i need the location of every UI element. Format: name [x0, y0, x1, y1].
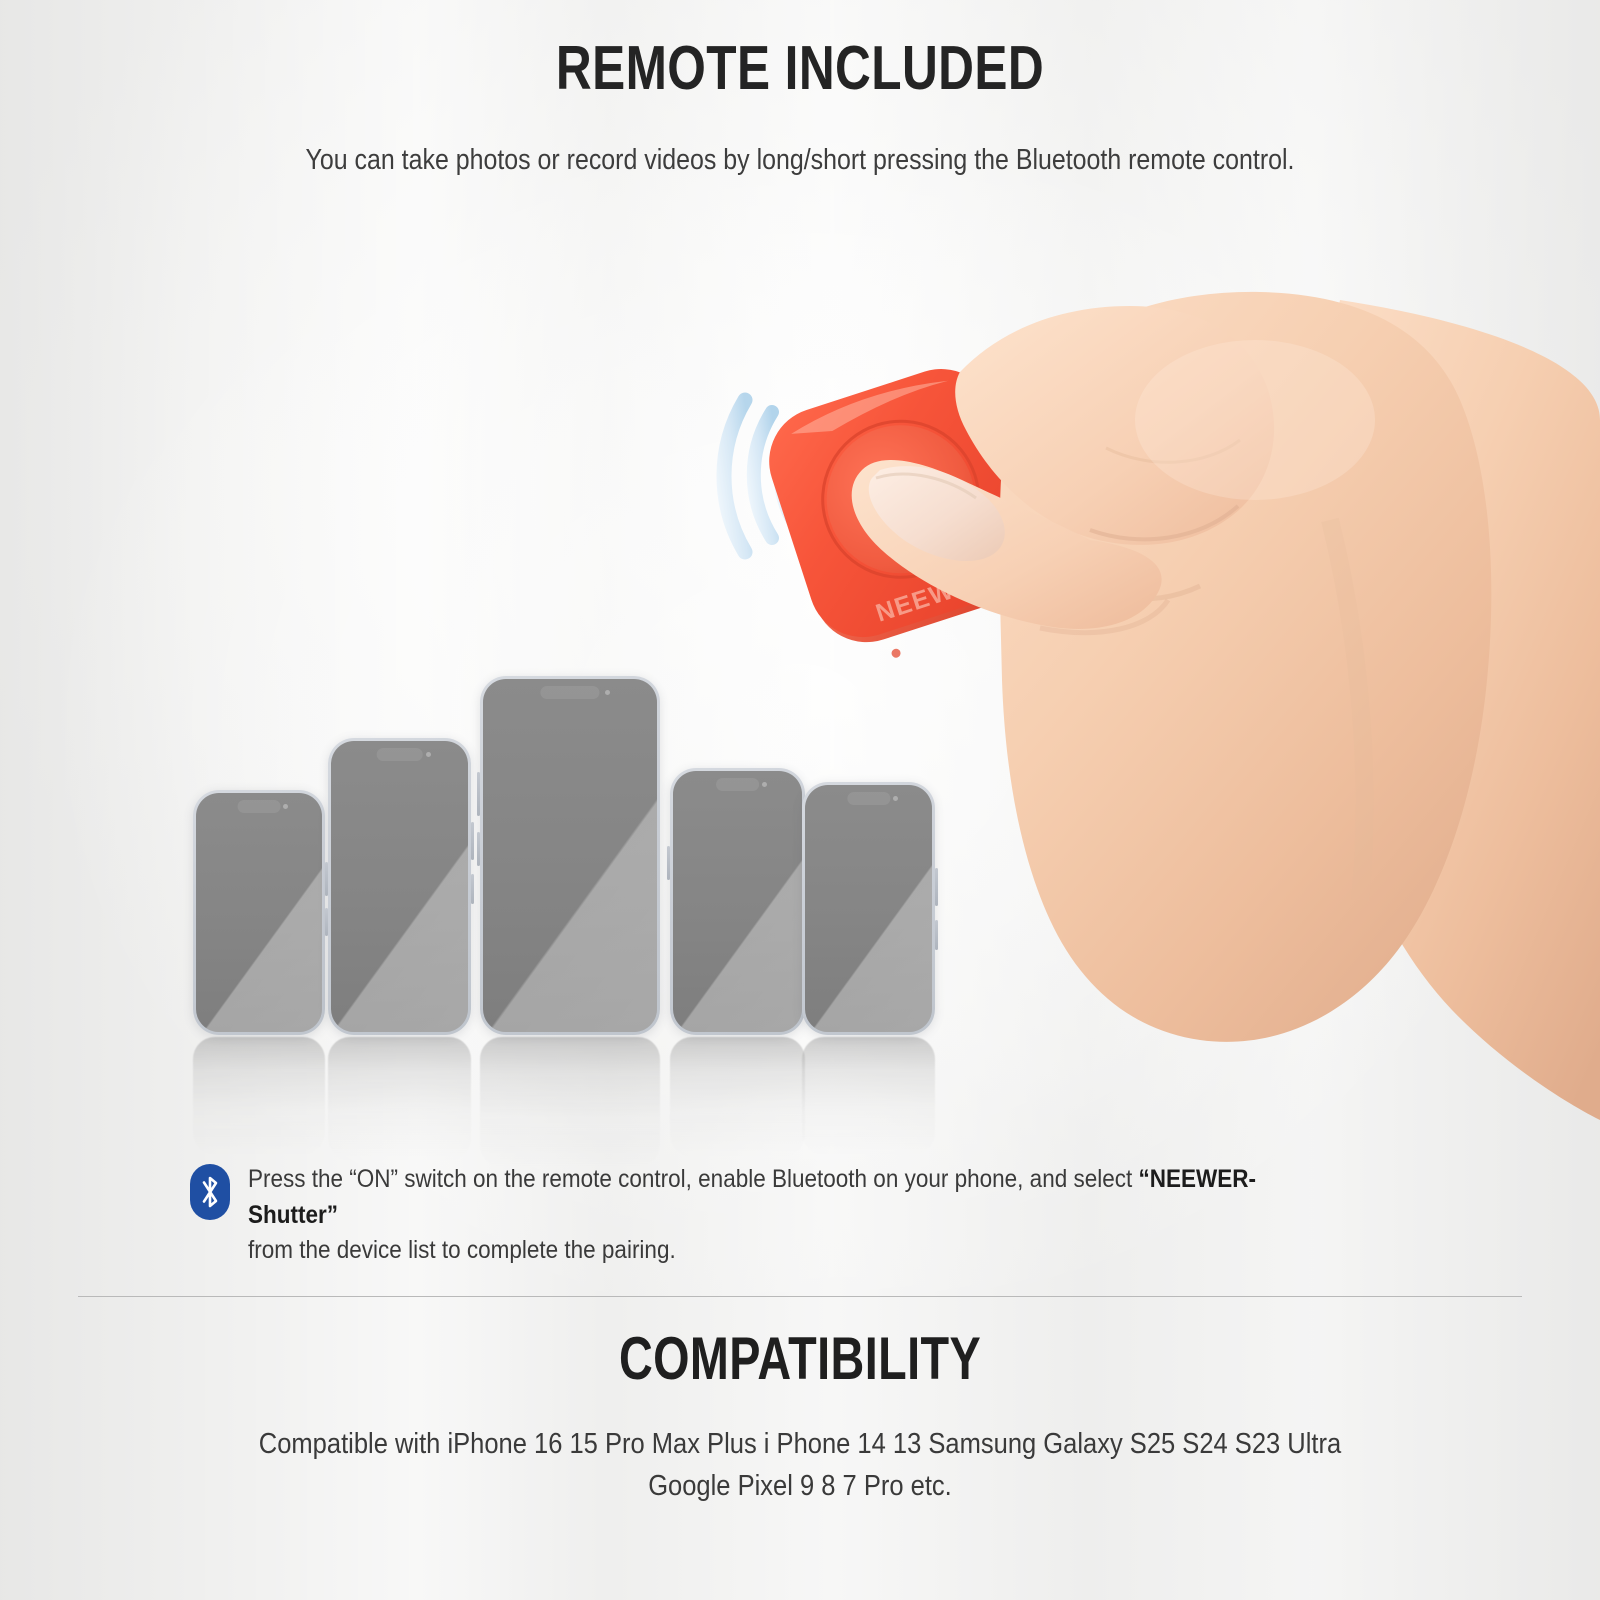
volume-button: [935, 868, 938, 906]
power-button: [471, 874, 474, 904]
action-button: [477, 832, 480, 866]
bluetooth-note-text: Press the “ON” switch on the remote cont…: [248, 1162, 1303, 1269]
phone-screen: [483, 679, 657, 1032]
page-subtitle: You can take photos or record videos by …: [112, 142, 1488, 178]
bluetooth-icon: [190, 1164, 230, 1220]
infographic-page: REMOTE INCLUDED You can take photos or r…: [0, 0, 1600, 1600]
shutter-button: [807, 406, 993, 592]
power-button: [935, 920, 938, 950]
phone-screen: [805, 785, 932, 1032]
hand: [852, 292, 1600, 1120]
phone-mockup-5: [802, 782, 935, 1035]
shutter-button-ring: [802, 401, 999, 598]
phone-screen: [331, 741, 468, 1032]
bt-line2: from the device list to complete the pai…: [248, 1236, 676, 1264]
phone-reflection-4: [670, 1037, 805, 1157]
volume-button: [325, 862, 328, 896]
power-button: [325, 908, 328, 936]
phone-mockup-2: [328, 738, 471, 1035]
page-title: REMOTE INCLUDED: [160, 36, 1440, 101]
phone-mockup-4: [670, 768, 805, 1035]
phone-mockup-3: [480, 676, 660, 1035]
compatibility-line-2: Google Pixel 9 8 7 Pro etc.: [96, 1465, 1504, 1507]
compatibility-title: COMPATIBILITY: [176, 1324, 1424, 1393]
phone-notch: [540, 686, 599, 699]
bluetooth-pairing-note: Press the “ON” switch on the remote cont…: [190, 1162, 1420, 1269]
phone-notch: [376, 748, 423, 761]
front-camera-icon: [605, 690, 610, 695]
front-camera-icon: [283, 804, 288, 809]
bluetooth-signal-waves: [724, 400, 795, 552]
front-camera-icon: [426, 752, 431, 757]
compatibility-text: Compatible with iPhone 16 15 Pro Max Plu…: [96, 1423, 1504, 1507]
phone-reflection-2: [328, 1037, 471, 1161]
front-camera-icon: [893, 796, 898, 801]
phone-screen: [673, 771, 802, 1032]
phone-mockup-1: [193, 790, 325, 1035]
phone-screen: [196, 793, 322, 1032]
compatibility-line-1: Compatible with iPhone 16 15 Pro Max Plu…: [96, 1423, 1504, 1465]
volume-button: [667, 846, 670, 880]
phone-notch: [716, 778, 760, 791]
thumb: [852, 460, 1162, 629]
front-camera-icon: [762, 782, 767, 787]
volume-button: [477, 772, 480, 816]
bt-line1-prefix: Press the “ON” switch on the remote cont…: [248, 1165, 1139, 1193]
bluetooth-remote-device: NEEWER: [755, 354, 1059, 677]
phone-reflection-1: [193, 1037, 325, 1155]
volume-button: [471, 822, 474, 860]
led-indicator: [890, 648, 901, 659]
phone-notch: [238, 800, 281, 813]
brand-label: NEEWER: [872, 564, 994, 627]
section-divider: [78, 1296, 1522, 1297]
phone-reflection-5: [802, 1037, 935, 1155]
thumbnail: [869, 466, 1005, 561]
phone-notch: [847, 792, 890, 805]
phone-reflection-3: [480, 1037, 660, 1167]
